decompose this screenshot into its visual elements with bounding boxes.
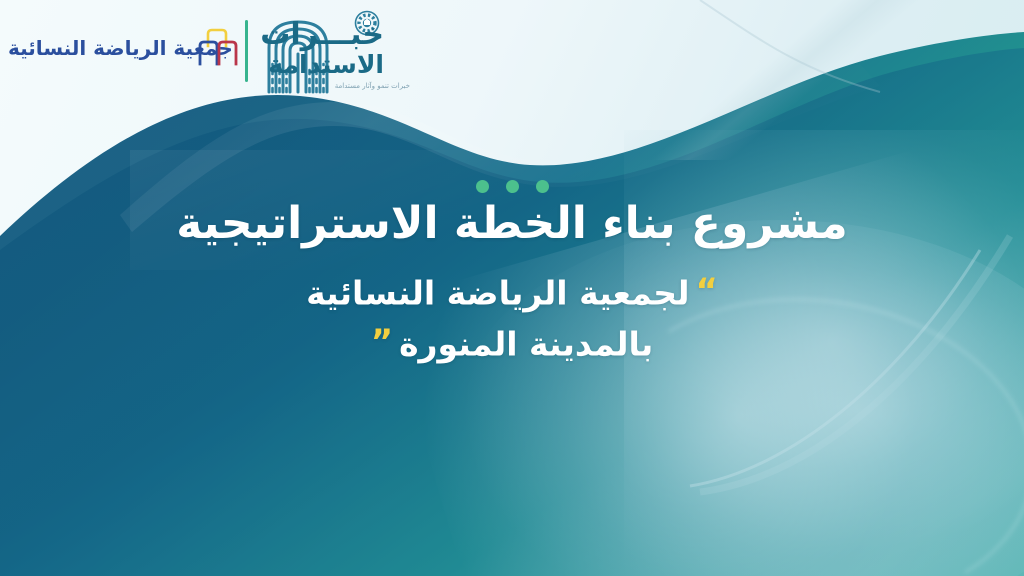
partner-brand: خبـــرات الاستدامة خبرات تنمو وآثار مستد… [262, 4, 462, 104]
dot-3 [476, 180, 489, 193]
subtitle-line-2: بالمدينة المنورة” [0, 318, 1024, 369]
decorative-dots [0, 180, 1024, 193]
partner-wordmark-line2: الاستدامة [260, 52, 384, 77]
quote-close-mark: ” [371, 322, 393, 362]
slide-subtitle: “لجمعية الرياضة النسائية بالمدينة المنور… [0, 267, 1024, 368]
quote-open-mark: “ [695, 271, 717, 311]
title-block: مشروع بناء الخطة الاستراتيجية “لجمعية ال… [0, 196, 1024, 368]
dot-1 [536, 180, 549, 193]
brand-divider [245, 20, 248, 82]
dot-2 [506, 180, 519, 193]
presentation-slide: جمعية الرياضة النسائية [0, 0, 1024, 576]
subtitle-line-1-text: لجمعية الرياضة النسائية [306, 274, 689, 313]
subtitle-line-1: “لجمعية الرياضة النسائية [0, 267, 1024, 318]
slide-title: مشروع بناء الخطة الاستراتيجية [0, 196, 1024, 251]
partner-wordmark: خبـــرات الاستدامة [260, 20, 384, 77]
partner-wordmark-line1: خبـــرات [260, 20, 384, 50]
association-arches-icon [196, 24, 240, 72]
partner-tagline: خبرات تنمو وآثار مستدامة [335, 82, 410, 90]
logo-bar: جمعية الرياضة النسائية [0, 0, 1024, 110]
subtitle-line-2-text: بالمدينة المنورة [399, 324, 653, 363]
